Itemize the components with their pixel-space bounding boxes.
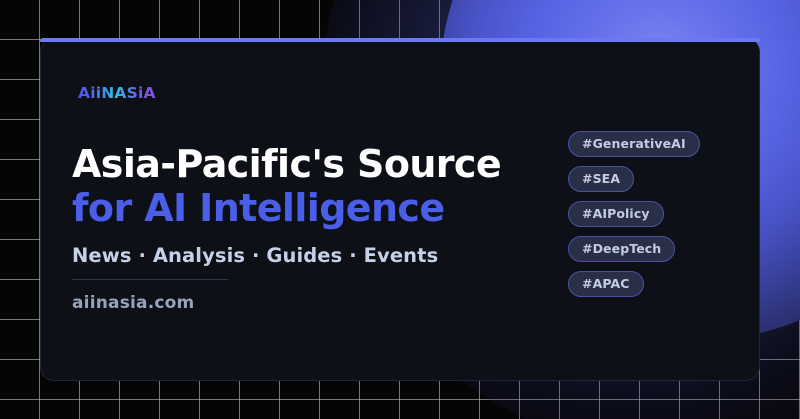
card-top-accent-bar: [40, 38, 760, 42]
headline-line-2: for AI Intelligence: [72, 186, 501, 230]
headline-line-1: Asia-Pacific's Source: [72, 142, 501, 186]
tag-list: #GenerativeAI #SEA #AIPolicy #DeepTech #…: [568, 131, 700, 297]
promo-card-canvas: AiiNASiA Asia-Pacific's Source for AI In…: [0, 0, 800, 419]
tag-chip[interactable]: #DeepTech: [568, 236, 675, 262]
tag-chip[interactable]: #APAC: [568, 271, 644, 297]
page-title: Asia-Pacific's Source for AI Intelligenc…: [72, 142, 501, 231]
tag-chip[interactable]: #GenerativeAI: [568, 131, 700, 157]
subtitle-categories: News · Analysis · Guides · Events: [72, 244, 438, 267]
tag-chip[interactable]: #AIPolicy: [568, 201, 664, 227]
brand-logo[interactable]: AiiNASiA: [78, 84, 156, 102]
tag-chip[interactable]: #SEA: [568, 166, 634, 192]
website-url[interactable]: aiinasia.com: [72, 293, 194, 313]
divider-rule: [72, 279, 228, 280]
